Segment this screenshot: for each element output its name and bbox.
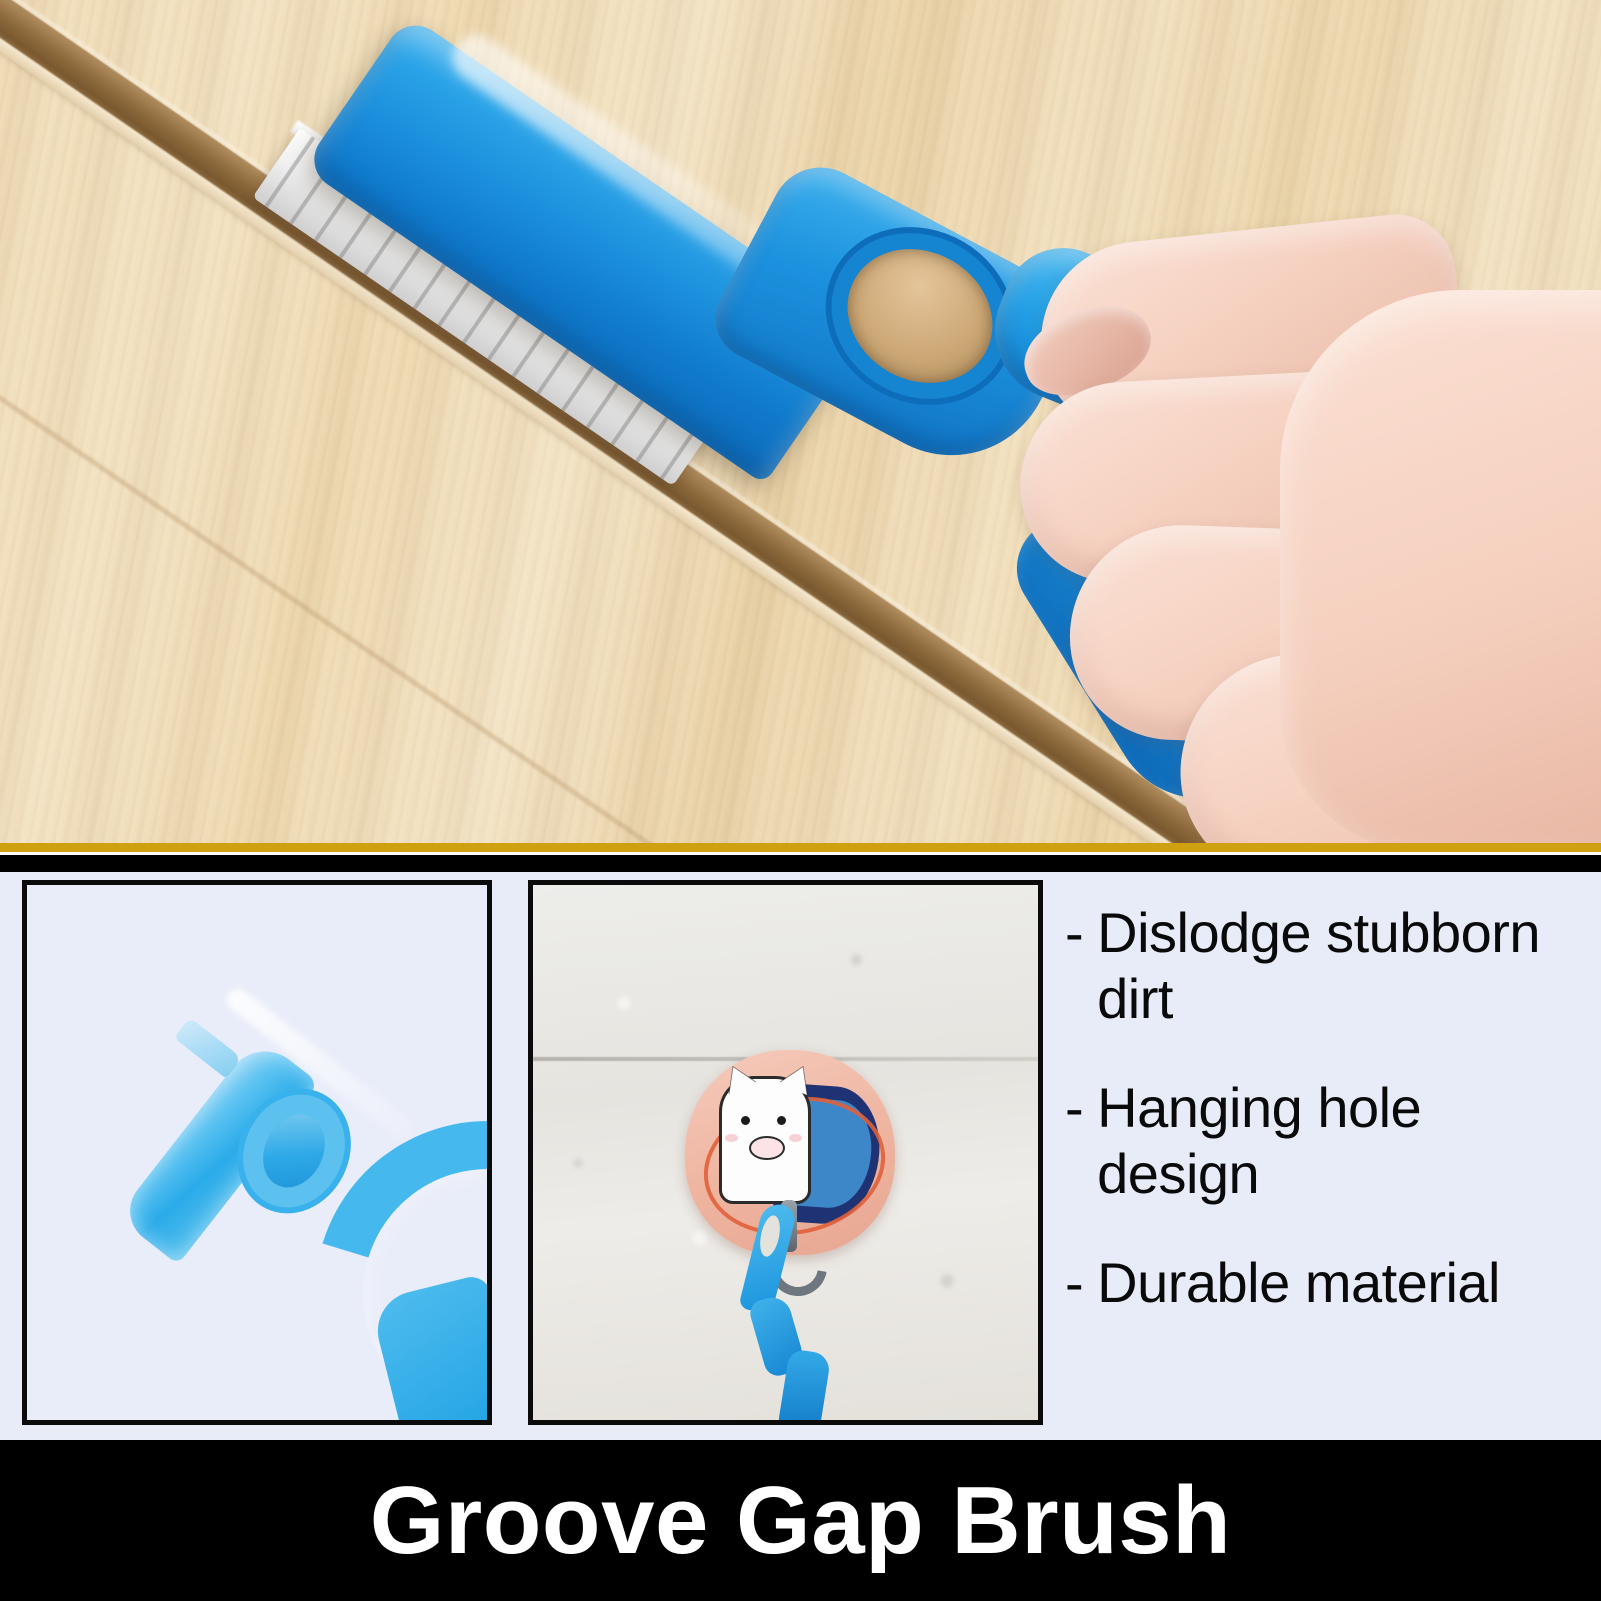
feature-item: - Durable material xyxy=(1065,1250,1595,1316)
product-title: Groove Gap Brush xyxy=(370,1466,1232,1576)
pig-eye-left-icon xyxy=(741,1116,750,1125)
product-title-bar: Groove Gap Brush xyxy=(0,1440,1601,1601)
hand-holding-brush xyxy=(980,200,1601,843)
gallery-panel-handle-closeup[interactable] xyxy=(22,880,492,1425)
pig-eye-right-icon xyxy=(777,1116,786,1125)
feature-label: Hanging hole design xyxy=(1097,1075,1595,1206)
feature-list: - Dislodge stubborn dirt - Hanging hole … xyxy=(1065,900,1595,1360)
palm xyxy=(1280,290,1601,843)
bullet-dash: - xyxy=(1065,1075,1083,1141)
feature-item: - Hanging hole design xyxy=(1065,1075,1595,1206)
pig-cheek-right-icon xyxy=(789,1134,802,1142)
pig-cheek-left-icon xyxy=(725,1134,738,1142)
black-divider-bar xyxy=(0,855,1601,872)
gold-divider-bar xyxy=(0,843,1601,852)
feature-item: - Dislodge stubborn dirt xyxy=(1065,900,1595,1031)
feature-label: Durable material xyxy=(1097,1250,1595,1316)
pig-snout-icon xyxy=(749,1136,785,1160)
hero-photo xyxy=(0,0,1601,843)
bullet-dash: - xyxy=(1065,900,1083,966)
feature-label: Dislodge stubborn dirt xyxy=(1097,900,1595,1031)
gallery-panel-hanging-demo[interactable] xyxy=(528,880,1043,1425)
bullet-dash: - xyxy=(1065,1250,1083,1316)
product-infographic: - Dislodge stubborn dirt - Hanging hole … xyxy=(0,0,1601,1601)
